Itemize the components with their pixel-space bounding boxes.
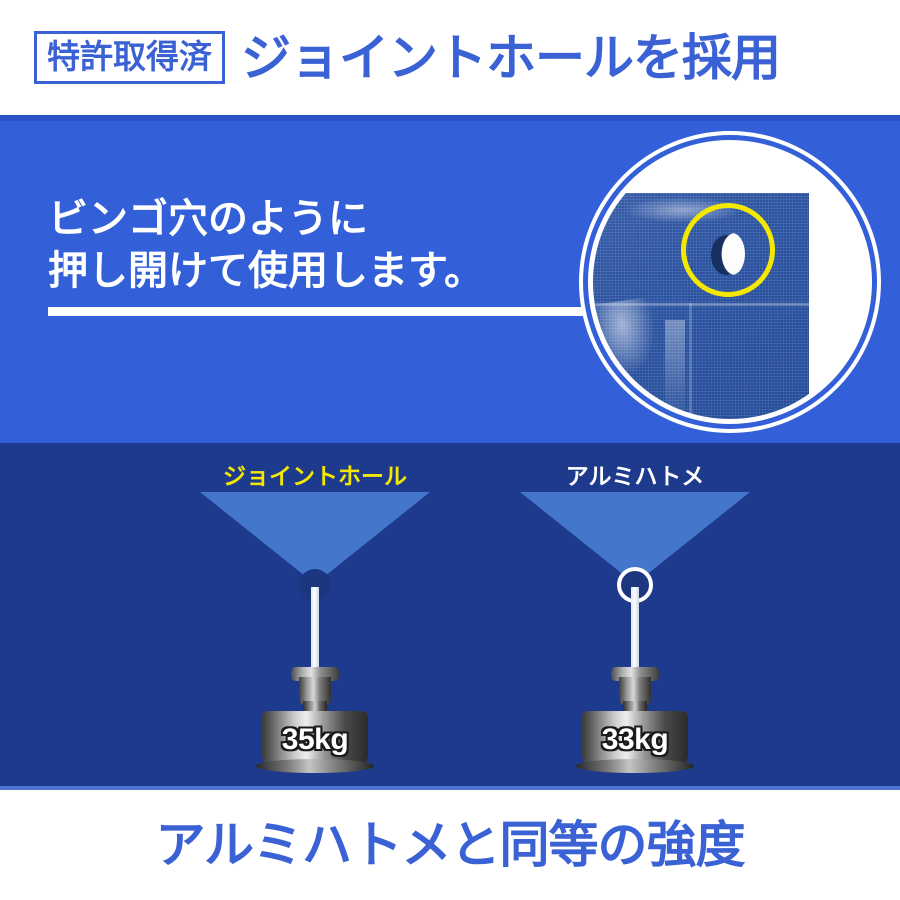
weight-value-left: 35kg xyxy=(245,723,385,757)
strength-comparison-section: ジョイントホール 35kg アルミハトメ 33kg xyxy=(0,443,900,790)
weight-base-right xyxy=(576,759,694,773)
hero-description-line-1: ビンゴ穴のように xyxy=(48,193,484,245)
tarp-vertical-fold xyxy=(689,303,692,424)
comparison-label-aluminum-grommet: アルミハトメ xyxy=(470,457,800,491)
footer-bar: アルミハトメと同等の強度 xyxy=(0,790,900,900)
yellow-highlight-circle-icon xyxy=(681,203,775,297)
header-bar: 特許取得済 ジョイントホールを採用 xyxy=(0,0,900,115)
weight-base-left xyxy=(256,759,374,773)
hero-underline-rule xyxy=(48,307,608,316)
hero-section: ビンゴ穴のように 押し開けて使用します。 xyxy=(0,115,900,443)
tarp-sheen-highlight xyxy=(596,296,665,383)
page-title: ジョイントホールを採用 xyxy=(241,33,780,83)
comparison-column-aluminum-grommet: アルミハトメ 33kg xyxy=(470,443,800,790)
tarp-sheen-highlight-crease xyxy=(665,320,685,415)
patent-badge: 特許取得済 xyxy=(34,31,225,84)
hero-description-line-2: 押し開けて使用します。 xyxy=(48,245,484,297)
comparison-label-joint-hole: ジョイントホール xyxy=(150,457,480,491)
weight-left: 35kg xyxy=(245,667,385,772)
hero-top-divider xyxy=(0,115,900,121)
footer-title: アルミハトメと同等の強度 xyxy=(156,820,745,870)
comparison-column-joint-hole: ジョイントホール 35kg xyxy=(150,443,480,790)
weight-right: 33kg xyxy=(565,667,705,772)
photo-background xyxy=(593,145,867,419)
hero-description: ビンゴ穴のように 押し開けて使用します。 xyxy=(48,193,484,297)
joint-hole-closeup-photo xyxy=(588,140,872,424)
weight-value-right: 33kg xyxy=(565,723,705,757)
